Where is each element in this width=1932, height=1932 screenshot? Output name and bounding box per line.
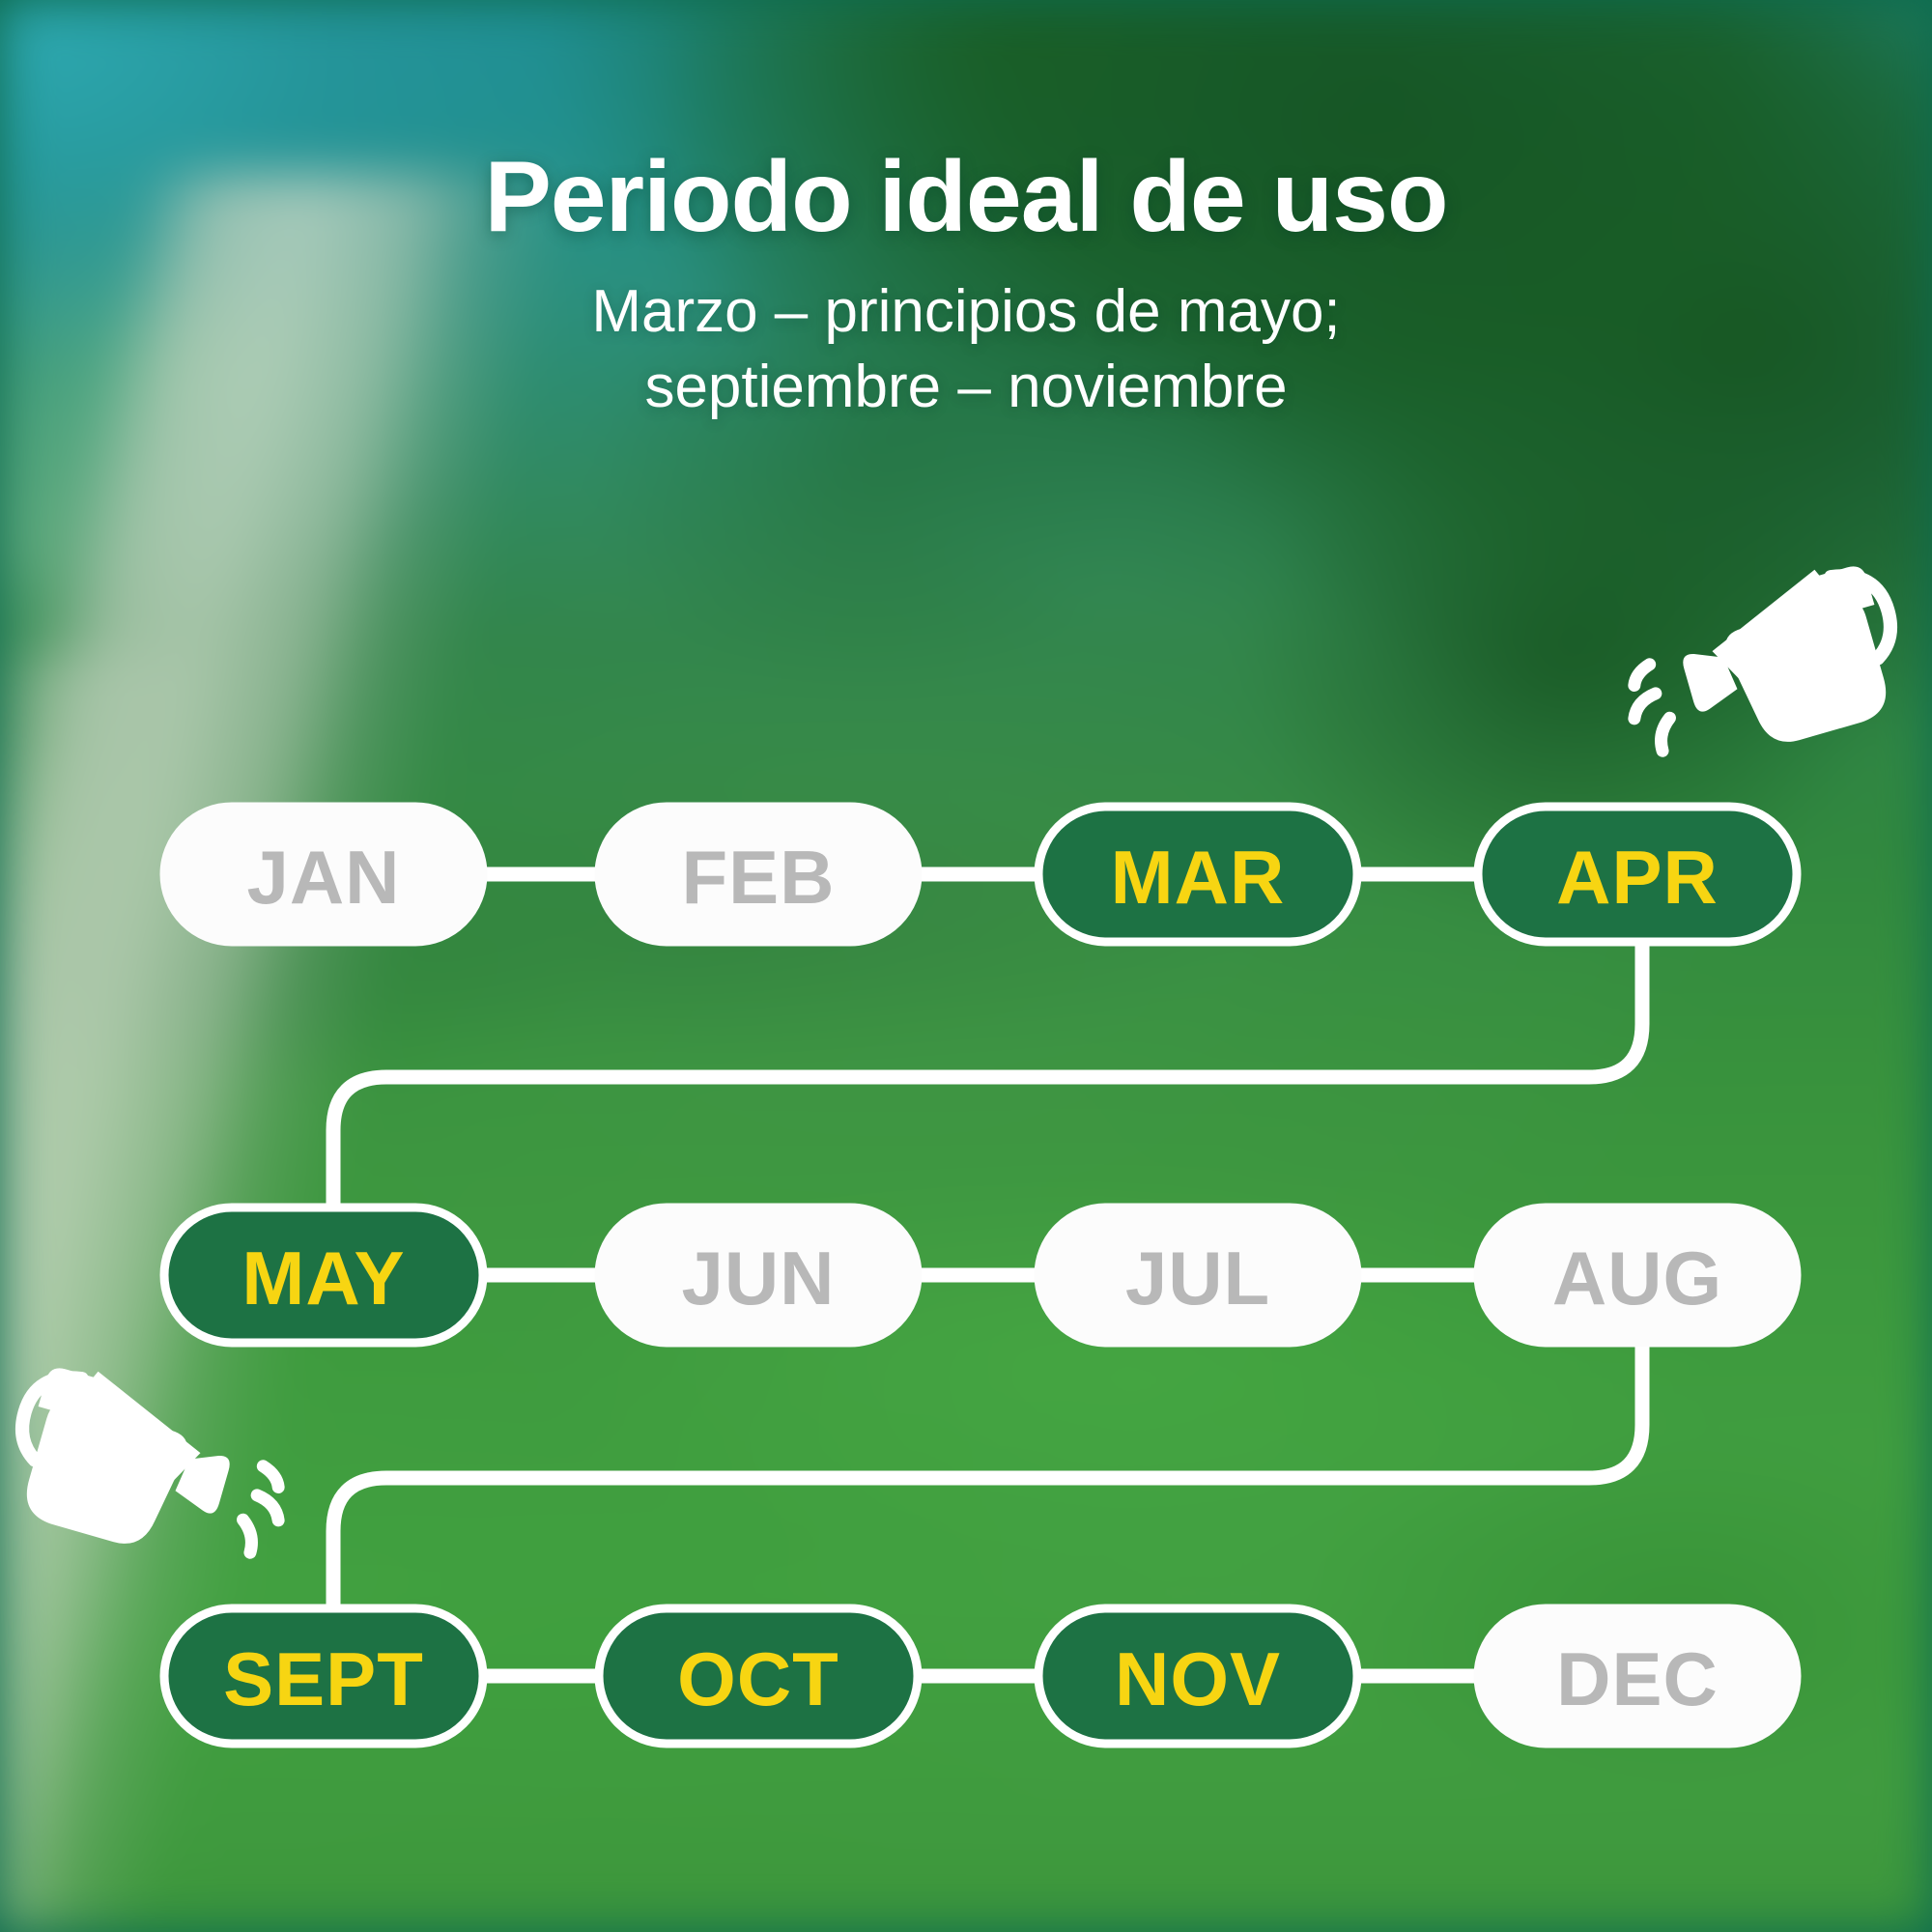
month-pill-may[interactable]: MAY — [164, 1207, 483, 1343]
month-pill-jun-label: JUN — [681, 1236, 835, 1321]
infographic-root: Periodo ideal de uso Marzo – principios … — [0, 0, 1932, 1932]
month-pill-apr-label: APR — [1556, 835, 1719, 920]
month-pill-oct-label: OCT — [677, 1636, 839, 1721]
connector-apr-to-may — [333, 942, 1642, 1207]
month-pill-dec[interactable]: DEC — [1478, 1608, 1797, 1744]
month-pill-sept-label: SEPT — [223, 1636, 424, 1721]
month-pill-jul[interactable]: JUL — [1038, 1207, 1357, 1343]
month-pill-may-label: MAY — [241, 1236, 405, 1321]
month-pill-jul-label: JUL — [1125, 1236, 1270, 1321]
month-pill-aug[interactable]: AUG — [1478, 1207, 1797, 1343]
month-pill-nov-label: NOV — [1115, 1636, 1281, 1721]
watering-can-icon-mid-left — [0, 1355, 304, 1584]
month-pill-jan[interactable]: JAN — [164, 807, 483, 942]
month-pill-oct[interactable]: OCT — [599, 1608, 918, 1744]
month-pill-feb[interactable]: FEB — [599, 807, 918, 942]
month-pill-mar[interactable]: MAR — [1038, 807, 1357, 942]
month-pill-sept[interactable]: SEPT — [164, 1608, 483, 1744]
month-pill-feb-label: FEB — [682, 835, 836, 920]
month-pill-jan-label: JAN — [246, 835, 400, 920]
connector-aug-to-sept — [333, 1343, 1642, 1608]
month-pill-aug-label: AUG — [1552, 1236, 1722, 1321]
month-pill-dec-label: DEC — [1556, 1636, 1719, 1721]
month-pill-nov[interactable]: NOV — [1038, 1608, 1357, 1744]
month-pill-jun[interactable]: JUN — [599, 1207, 918, 1343]
month-pill-mar-label: MAR — [1111, 835, 1286, 920]
month-timeline: JAN FEB MAR APR MAY JUN — [0, 0, 1932, 1932]
month-pill-apr[interactable]: APR — [1478, 807, 1797, 942]
watering-can-icon-top-right — [1608, 554, 1916, 782]
